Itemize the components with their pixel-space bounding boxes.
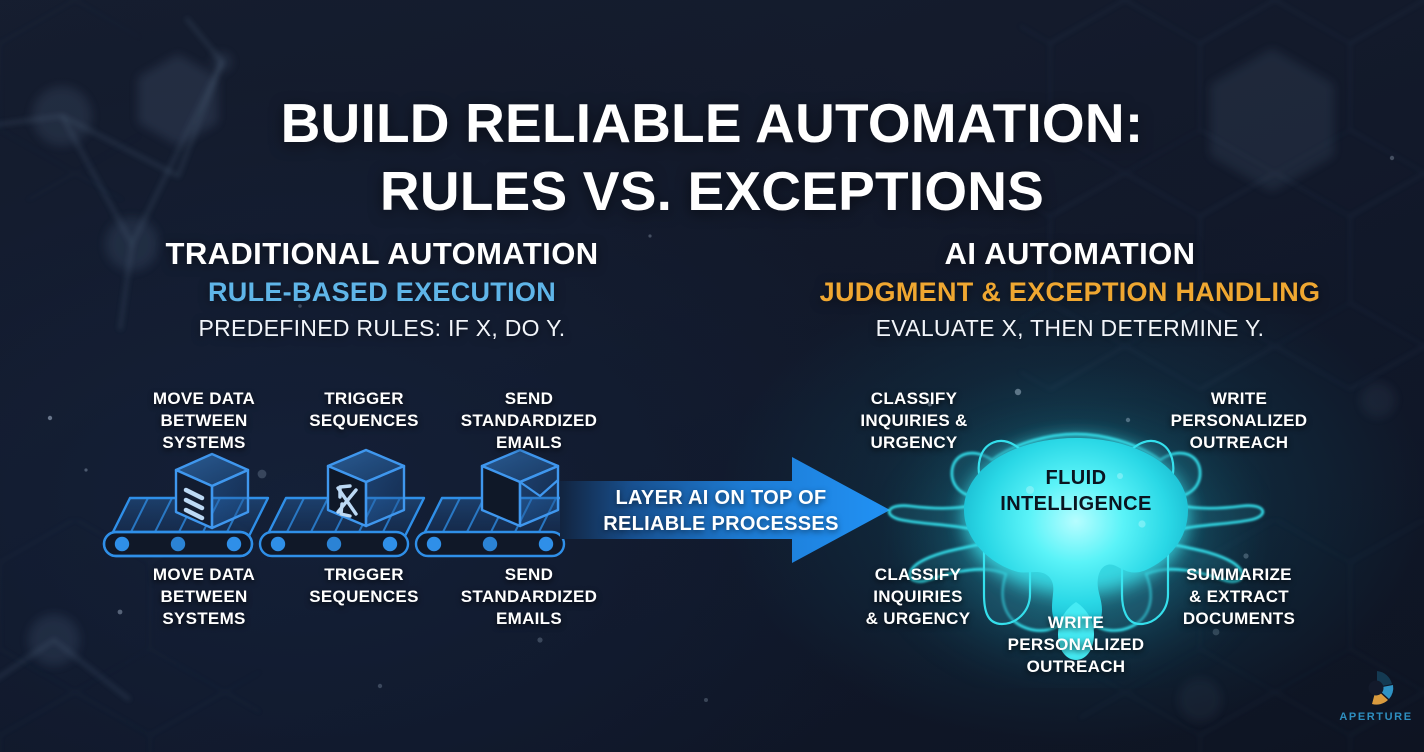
conveyor-box-envelope [482,450,558,526]
aperture-logo: APERTURE [1336,668,1416,723]
conveyor-belt-illustration [100,440,620,560]
arrow-label: LAYER AI ON TOP OF RELIABLE PROCESSES [596,485,846,537]
conveyor-top-label-1: MOVE DATA BETWEEN SYSTEMS [118,388,290,453]
conveyor-top-label-2: TRIGGER SEQUENCES [288,388,440,432]
ai-label-bottom-right: SUMMARIZE & EXTRACT DOCUMENTS [1150,564,1328,629]
conveyor-bottom-label-1: MOVE DATA BETWEEN SYSTEMS [118,564,290,629]
aperture-icon [1356,668,1396,708]
right-description: EVALUATE X, THEN DETERMINE Y. [740,315,1400,342]
title-line-1: BUILD RELIABLE AUTOMATION: [281,92,1144,154]
fluid-intelligence-label: FLUID INTELLIGENCE [985,465,1167,517]
infographic-canvas: BUILD RELIABLE AUTOMATION: RULES VS. EXC… [0,0,1424,752]
right-subheading: JUDGMENT & EXCEPTION HANDLING [740,277,1400,308]
aperture-wordmark: APERTURE [1336,711,1416,723]
conveyor-box-trigger [328,450,404,526]
ai-label-bottom-left: CLASSIFY INQUIRIES & URGENCY [828,564,1008,629]
title-line-2: RULES VS. EXCEPTIONS [0,157,1424,225]
right-column-header: AI AUTOMATION JUDGMENT & EXCEPTION HANDL… [740,236,1400,342]
right-heading: AI AUTOMATION [740,236,1400,272]
left-heading: TRADITIONAL AUTOMATION [52,236,712,272]
left-column-header: TRADITIONAL AUTOMATION RULE-BASED EXECUT… [52,236,712,342]
left-subheading: RULE-BASED EXECUTION [52,277,712,308]
left-description: PREDEFINED RULES: IF X, DO Y. [52,315,712,342]
conveyor-bottom-label-3: SEND STANDARDIZED EMAILS [440,564,618,629]
ai-label-top-right: WRITE PERSONALIZED OUTREACH [1150,388,1328,453]
ai-label-top-left: CLASSIFY INQUIRIES & URGENCY [828,388,1000,453]
conveyor-bottom-label-2: TRIGGER SEQUENCES [288,564,440,608]
conveyor-box-document [176,454,248,528]
ai-label-bottom-center: WRITE PERSONALIZED OUTREACH [985,612,1167,677]
page-title: BUILD RELIABLE AUTOMATION: RULES VS. EXC… [0,89,1424,225]
conveyor-top-label-3: SEND STANDARDIZED EMAILS [440,388,618,453]
